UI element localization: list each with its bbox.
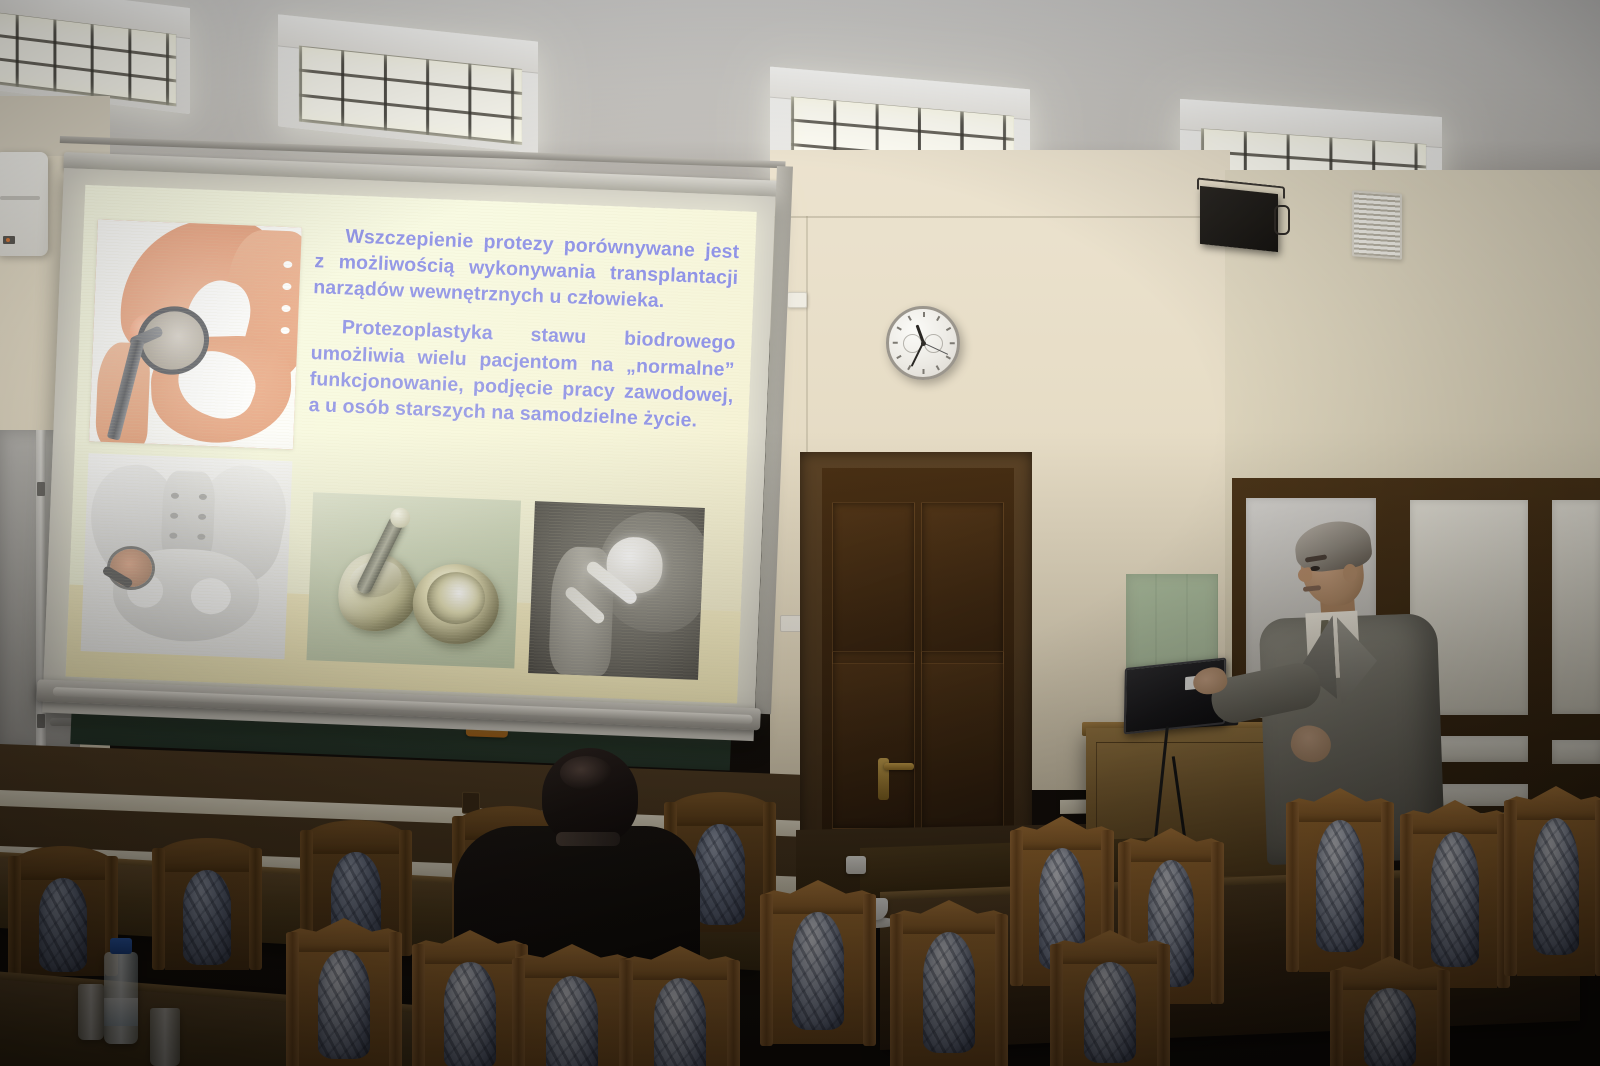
chair[interactable] xyxy=(760,880,876,1044)
chair[interactable] xyxy=(1050,930,1170,1066)
door-frame xyxy=(800,452,1032,850)
chair[interactable] xyxy=(1286,788,1394,972)
chair[interactable] xyxy=(8,846,118,976)
salt-shaker[interactable] xyxy=(846,856,866,874)
presentation-slide: Wszczepienie protezy porównywane jest z … xyxy=(66,185,757,704)
chair[interactable] xyxy=(620,946,740,1066)
chair[interactable] xyxy=(412,930,528,1066)
light-switch[interactable] xyxy=(787,292,807,308)
chair[interactable] xyxy=(286,918,402,1066)
water-bottle[interactable] xyxy=(104,952,138,1044)
lecture-room-photo: Wszczepienie protezy porównywane jest z … xyxy=(0,0,1600,1066)
hip-anatomy-illustration xyxy=(89,219,302,449)
left-wall-upper xyxy=(0,96,110,156)
wall-seam xyxy=(770,216,1230,218)
projection-screen: Wszczepienie protezy porównywane jest z … xyxy=(42,168,775,741)
ventilation-grille-icon xyxy=(1352,190,1402,259)
drinking-glass[interactable] xyxy=(78,984,104,1040)
pelvis-model-photo xyxy=(81,453,293,659)
bottle-label xyxy=(104,998,138,1026)
hip-xray-photo xyxy=(528,501,705,680)
door-handle[interactable] xyxy=(884,763,914,770)
chair[interactable] xyxy=(1330,956,1450,1066)
speaker-mount-knob xyxy=(1274,205,1290,235)
chair[interactable] xyxy=(1504,786,1600,976)
wall-clock xyxy=(886,306,960,380)
air-conditioner xyxy=(0,152,48,256)
slide-paragraph-1: Wszczepienie protezy porównywane jest z … xyxy=(313,222,740,317)
implant-components-layer xyxy=(306,492,521,668)
drinking-glass[interactable] xyxy=(150,1008,180,1066)
wall-speaker xyxy=(1200,186,1278,252)
light-switch-lower[interactable] xyxy=(780,615,802,632)
bottle-cap xyxy=(110,938,132,954)
slide-text-block: Wszczepienie protezy porównywane jest z … xyxy=(308,222,740,435)
chair[interactable] xyxy=(890,900,1008,1066)
chair[interactable] xyxy=(512,944,632,1066)
wall-seam-vertical xyxy=(806,216,808,476)
chair[interactable] xyxy=(152,838,262,970)
slide-paragraph-2: Protezoplastyka stawu biodrowego umożliw… xyxy=(308,313,736,434)
wooden-door[interactable] xyxy=(822,468,1014,850)
